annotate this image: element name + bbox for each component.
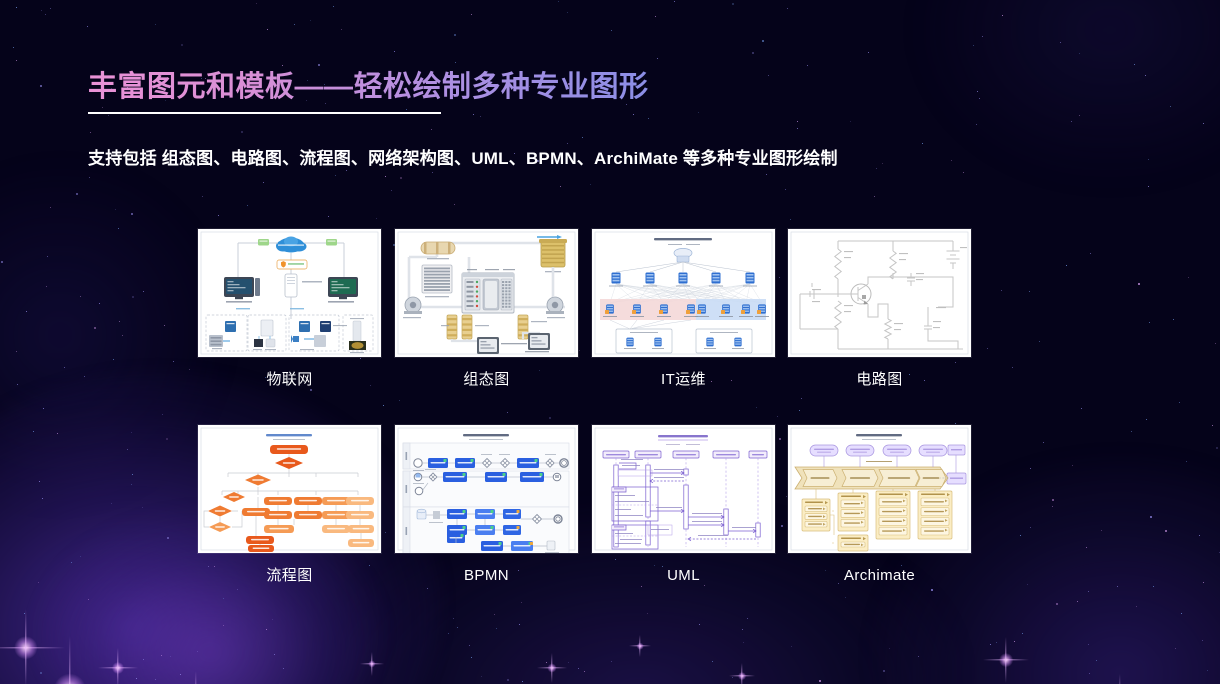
diagram-card-orange-flowchart[interactable]: 流程图	[198, 425, 381, 585]
diagram-card-caption: UML	[592, 567, 775, 585]
diagram-card-iot-topology-diagram[interactable]: 物联网	[198, 229, 381, 389]
thumbnail-bpmn-swimlane-diagram[interactable]	[395, 425, 578, 553]
page-subtitle: 支持包括 组态图、电路图、流程图、网络架构图、UML、BPMN、ArchiMat…	[88, 144, 838, 169]
diagram-card-it-ops-network-topology[interactable]: IT运维	[592, 229, 775, 389]
thumbnail-scada-hmi-process-diagram[interactable]	[395, 229, 578, 357]
diagram-card-bpmn-swimlane-diagram[interactable]: BPMN	[395, 425, 578, 585]
page-title: 丰富图元和模板——轻松绘制多种专业图形	[88, 63, 649, 105]
diagram-card-archimate-value-stream[interactable]: Archimate	[788, 425, 971, 585]
diagram-card-caption: 流程图	[198, 567, 381, 585]
thumbnail-electronic-circuit-schematic[interactable]	[788, 229, 971, 357]
title-underline-rule	[88, 112, 441, 114]
diagram-card-uml-sequence-diagram[interactable]: UML	[592, 425, 775, 585]
diagram-card-caption: Archimate	[788, 567, 971, 585]
diagram-card-caption: IT运维	[592, 371, 775, 389]
thumbnail-iot-topology-diagram[interactable]	[198, 229, 381, 357]
diagram-card-caption: 物联网	[198, 371, 381, 389]
thumbnail-uml-sequence-diagram[interactable]	[592, 425, 775, 553]
diagram-card-caption: 电路图	[788, 371, 971, 389]
diagram-card-caption: 组态图	[395, 371, 578, 389]
thumbnail-orange-flowchart[interactable]	[198, 425, 381, 553]
diagram-card-caption: BPMN	[395, 567, 578, 585]
thumbnail-archimate-value-stream[interactable]	[788, 425, 971, 553]
diagram-card-electronic-circuit-schematic[interactable]: 电路图	[788, 229, 971, 389]
thumbnail-it-ops-network-topology[interactable]	[592, 229, 775, 357]
diagram-card-scada-hmi-process-diagram[interactable]: 组态图	[395, 229, 578, 389]
